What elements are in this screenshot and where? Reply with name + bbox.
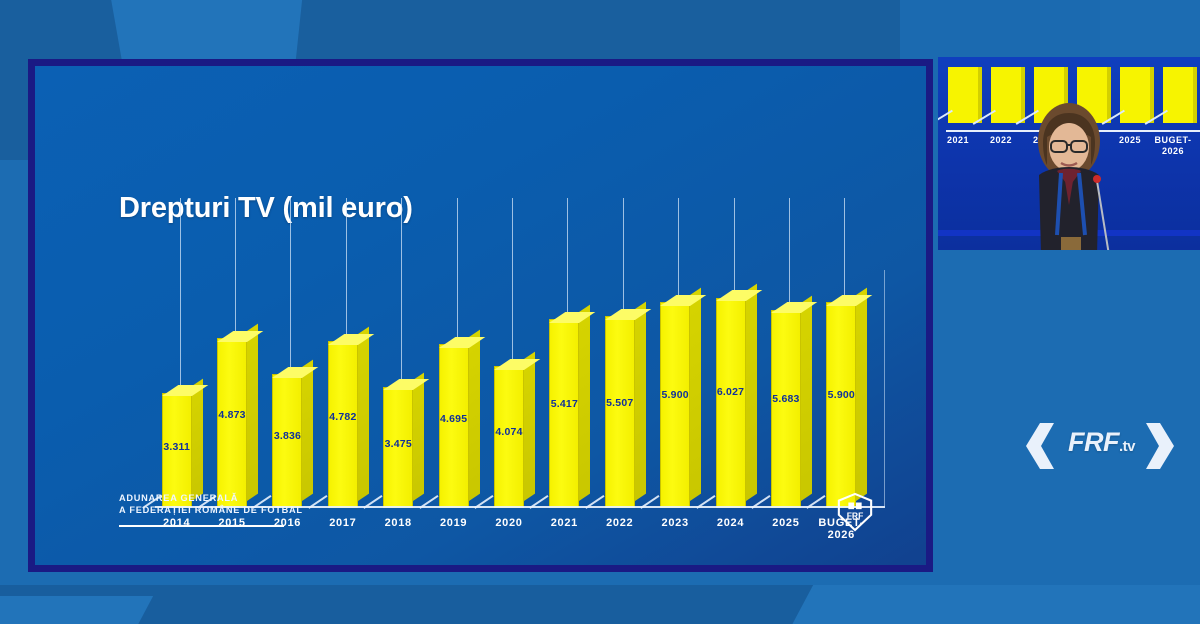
slide-footer: ADUNAREA GENERALĂ A FEDERAȚIEI ROMÂNE DE… [119, 492, 303, 527]
chart-bar-side [413, 372, 424, 501]
chart-bar-side [358, 327, 369, 501]
background-shape-6 [0, 596, 153, 624]
chart-bar: 4.873 [217, 338, 247, 508]
chart-bar: 5.507 [605, 316, 635, 508]
chart-bar-side [302, 360, 313, 501]
chart-bar: 5.417 [549, 319, 579, 508]
chart-bar-value-label: 5.900 [826, 389, 856, 401]
chart-bar-face [660, 302, 690, 508]
chart-bar-value-label: 5.683 [771, 393, 801, 405]
watermark-brand: FRF [1068, 427, 1119, 457]
chart-bar-side [192, 378, 203, 501]
frf-shield-logo: FRF [836, 492, 874, 532]
chart-bar-face [605, 316, 635, 508]
chart-bar-face [217, 338, 247, 508]
pip-projected-screen: 20212022202320242025BUGET-2026 [938, 57, 1200, 250]
pip-chart-x-label: BUGET-2026 [1151, 135, 1195, 157]
chart-bar-side [856, 288, 867, 501]
chart-x-axis-label: 2020 [481, 517, 536, 529]
chart-bar-value-label: 4.695 [439, 413, 469, 425]
chart-bar-side [469, 330, 480, 501]
chart-bar-face [328, 341, 358, 508]
bar-chart: 3.31120144.87320153.83620164.78220173.47… [153, 198, 873, 508]
chart-bar: 6.027 [716, 298, 746, 508]
svg-text:FRF: FRF [847, 511, 864, 521]
chart-bar-value-label: 4.782 [328, 411, 358, 423]
chart-x-axis-label: 2024 [703, 517, 758, 529]
frf-tv-watermark: FRF.tv [1020, 415, 1180, 477]
chart-bar-side [524, 352, 535, 501]
chart-right-axis [884, 270, 885, 508]
chart-bar-face [439, 344, 469, 508]
chart-plot-area: 3.31120144.87320153.83620164.78220173.47… [153, 198, 873, 508]
chart-x-axis-label: 2018 [371, 517, 426, 529]
chart-bar-side [635, 302, 646, 501]
pip-chart-bar [948, 67, 982, 123]
chart-bar-value-label: 3.311 [162, 441, 192, 453]
speaker-video-pane[interactable]: 20212022202320242025BUGET-2026 [938, 57, 1200, 250]
footer-line-2: A FEDERAȚIEI ROMÂNE DE FOTBAL [119, 504, 303, 516]
chart-bar-value-label: 4.873 [217, 409, 247, 421]
chart-bar-value-label: 6.027 [716, 386, 746, 398]
chart-bar: 3.311 [162, 393, 192, 508]
chart-bar-side [801, 296, 812, 501]
chart-x-axis-label: 2019 [426, 517, 481, 529]
chart-bar: 4.074 [494, 366, 524, 508]
chart-bar-value-label: 3.836 [272, 430, 302, 442]
watermark-suffix: .tv [1119, 438, 1135, 455]
chart-x-axis-label: 2021 [537, 517, 592, 529]
chart-bar-side [247, 324, 258, 501]
slide-canvas: Drepturi TV (mil euro) 3.31120144.873201… [35, 66, 926, 565]
chart-bar-face [771, 310, 801, 508]
chart-bar-face [826, 302, 856, 508]
chart-x-axis-label: 2022 [592, 517, 647, 529]
chart-bar-face [549, 319, 579, 508]
chart-bar: 4.782 [328, 341, 358, 508]
chart-x-axis-label: 2023 [647, 517, 702, 529]
slide-edge-bottom [28, 565, 933, 572]
chart-bar: 3.836 [272, 374, 302, 508]
chart-bar: 5.900 [826, 302, 856, 508]
chart-x-axis-label: 2025 [758, 517, 813, 529]
chart-bar: 4.695 [439, 344, 469, 508]
watermark-text: FRF.tv [1068, 427, 1135, 458]
presentation-slide: Drepturi TV (mil euro) 3.31120144.873201… [28, 59, 933, 572]
chart-bar-value-label: 5.417 [549, 398, 579, 410]
pip-chart-bar [1163, 67, 1197, 123]
chart-bar-value-label: 3.475 [383, 438, 413, 450]
chart-bar-side [579, 305, 590, 501]
chart-bar: 5.683 [771, 310, 801, 508]
speaker-figure [999, 95, 1139, 250]
chart-bar-side [690, 288, 701, 501]
chart-bar-face [716, 298, 746, 508]
chart-bar-value-label: 5.507 [605, 397, 635, 409]
slide-edge-top [28, 59, 933, 66]
chart-bar: 3.475 [383, 387, 413, 508]
chart-bar-side [746, 284, 757, 501]
chart-bar-value-label: 4.074 [494, 426, 524, 438]
footer-divider [119, 525, 284, 527]
chart-bar: 5.900 [660, 302, 690, 508]
pip-chart-x-label: 2021 [938, 135, 980, 146]
footer-line-1: ADUNAREA GENERALĂ [119, 492, 303, 504]
chart-bar-value-label: 5.900 [660, 389, 690, 401]
chart-x-axis-label: 2017 [315, 517, 370, 529]
